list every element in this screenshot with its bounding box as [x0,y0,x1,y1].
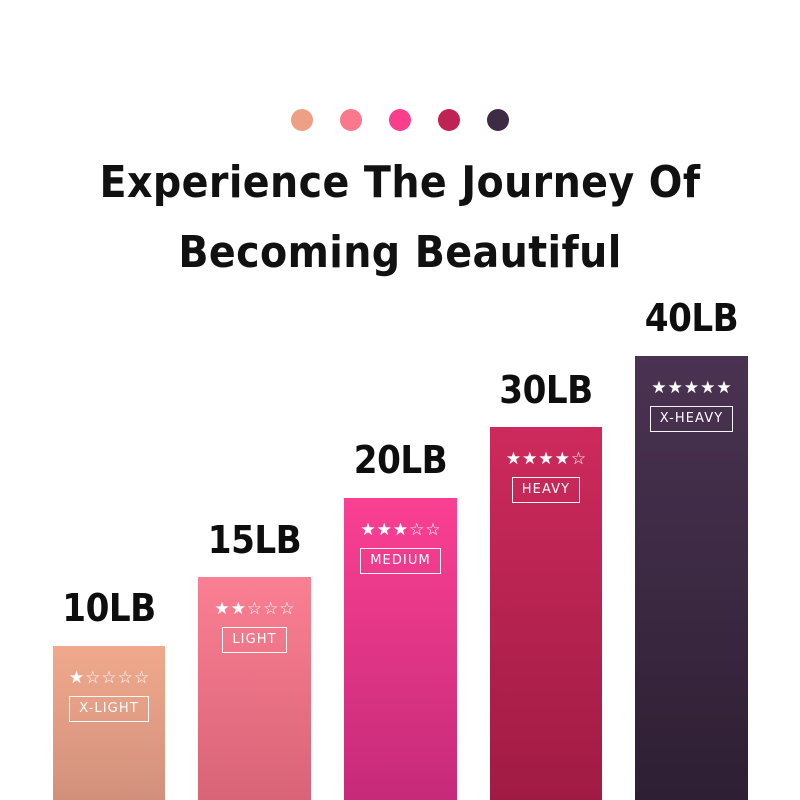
bar-20lb[interactable]: 20LB★★★☆☆MEDIUM [344,438,457,800]
bar-10lb-grade-badge: X-LIGHT [69,696,149,722]
star-empty-icon: ☆ [85,670,100,687]
star-empty-icon: ☆ [263,601,278,618]
bar-15lb-column[interactable]: ★★☆☆☆LIGHT [198,577,311,800]
star-empty-icon: ☆ [571,451,586,468]
bar-15lb[interactable]: 15LB★★☆☆☆LIGHT [198,518,311,800]
star-filled-icon: ★ [69,670,84,687]
star-filled-icon: ★ [538,451,553,468]
bar-10lb-badge-stack: ★☆☆☆☆X-LIGHT [53,646,165,722]
bar-15lb-star-rating: ★★☆☆☆ [214,601,294,618]
star-filled-icon: ★ [522,451,537,468]
bar-20lb-badge-stack: ★★★☆☆MEDIUM [344,498,457,574]
star-empty-icon: ☆ [101,670,116,687]
bar-10lb-star-rating: ★☆☆☆☆ [69,670,149,687]
bar-40lb-weight-label: 40LB [645,296,738,340]
star-empty-icon: ☆ [247,601,262,618]
star-filled-icon: ★ [214,601,229,618]
star-filled-icon: ★ [668,380,683,397]
bar-15lb-badge-stack: ★★☆☆☆LIGHT [198,577,311,653]
bar-20lb-star-rating: ★★★☆☆ [360,522,440,539]
bar-30lb-grade-badge: HEAVY [512,477,580,503]
bar-30lb-column[interactable]: ★★★★☆HEAVY [490,427,602,800]
star-empty-icon: ☆ [134,670,149,687]
star-filled-icon: ★ [651,380,666,397]
bar-20lb-column[interactable]: ★★★☆☆MEDIUM [344,498,457,800]
bar-10lb-column[interactable]: ★☆☆☆☆X-LIGHT [53,646,165,800]
star-filled-icon: ★ [716,380,731,397]
bar-30lb-weight-label: 30LB [499,368,592,412]
bar-20lb-weight-label: 20LB [354,438,447,482]
star-empty-icon: ☆ [425,522,440,539]
bar-40lb-column[interactable]: ★★★★★X-HEAVY [635,356,748,800]
star-empty-icon: ☆ [118,670,133,687]
star-filled-icon: ★ [360,522,375,539]
star-filled-icon: ★ [555,451,570,468]
bar-30lb-badge-stack: ★★★★☆HEAVY [490,427,602,503]
bar-40lb-star-rating: ★★★★★ [651,380,731,397]
bar-15lb-weight-label: 15LB [208,518,301,562]
star-filled-icon: ★ [684,380,699,397]
star-filled-icon: ★ [231,601,246,618]
star-empty-icon: ☆ [409,522,424,539]
bar-30lb[interactable]: 30LB★★★★☆HEAVY [490,368,602,800]
star-filled-icon: ★ [393,522,408,539]
promo-banner: Experience The Journey Of Becoming Beaut… [0,0,800,800]
star-empty-icon: ☆ [279,601,294,618]
bar-10lb[interactable]: 10LB★☆☆☆☆X-LIGHT [53,586,165,800]
bar-10lb-weight-label: 10LB [62,586,155,630]
star-filled-icon: ★ [377,522,392,539]
bar-40lb[interactable]: 40LB★★★★★X-HEAVY [635,296,748,800]
bar-30lb-star-rating: ★★★★☆ [506,451,586,468]
star-filled-icon: ★ [700,380,715,397]
bar-40lb-badge-stack: ★★★★★X-HEAVY [635,356,748,432]
bar-40lb-grade-badge: X-HEAVY [650,406,734,432]
resistance-bar-chart: 10LB★☆☆☆☆X-LIGHT15LB★★☆☆☆LIGHT20LB★★★☆☆M… [0,0,800,800]
star-filled-icon: ★ [506,451,521,468]
bar-20lb-grade-badge: MEDIUM [360,548,441,574]
bar-15lb-grade-badge: LIGHT [222,627,286,653]
